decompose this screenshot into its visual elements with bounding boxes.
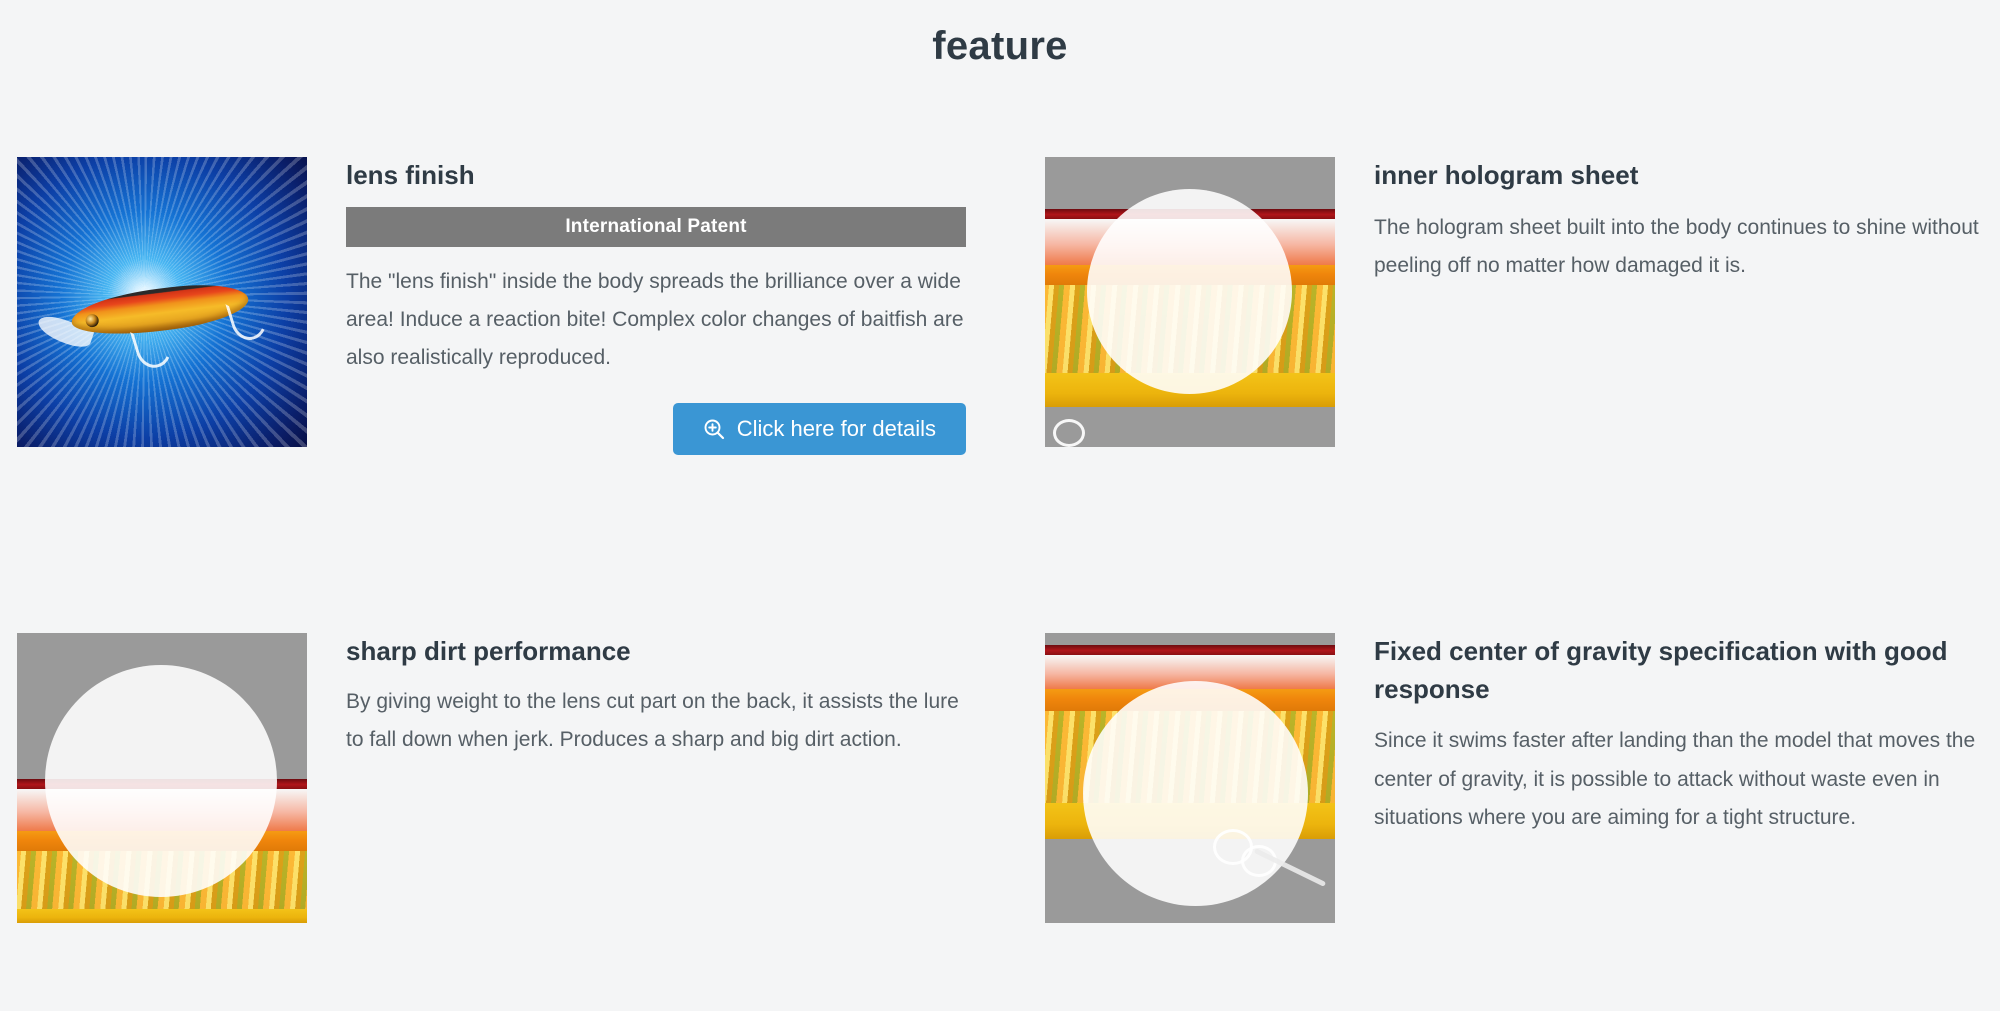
- feature-image-lens-finish[interactable]: [17, 157, 307, 447]
- details-button-label: Click here for details: [737, 418, 936, 440]
- feature-body-lens-finish: lens finish International Patent The "le…: [307, 157, 972, 455]
- macro-band-pink: [17, 789, 307, 831]
- feature-description: The hologram sheet built into the body c…: [1374, 209, 1994, 285]
- feature-image-sharp-dirt-performance[interactable]: [17, 633, 307, 923]
- hook-ring-icon: [1053, 419, 1085, 447]
- feature-body-inner-hologram-sheet: inner hologram sheet The hologram sheet …: [1335, 157, 1995, 285]
- feature-card-fixed-center-of-gravity: Fixed center of gravity specification wi…: [1045, 633, 1995, 923]
- macro-band-red-stripe: [1045, 209, 1335, 219]
- macro-band-orange: [1045, 689, 1335, 711]
- macro-band-orange: [1045, 265, 1335, 285]
- feature-title: inner hologram sheet: [1374, 157, 1995, 195]
- feature-card-sharp-dirt-performance: sharp dirt performance By giving weight …: [17, 633, 972, 923]
- macro-band-hologram: [1045, 285, 1335, 373]
- macro-band-yellow: [1045, 803, 1335, 839]
- macro-band-pink: [1045, 655, 1335, 689]
- feature-card-inner-hologram-sheet: inner hologram sheet The hologram sheet …: [1045, 157, 1995, 447]
- click-here-for-details-button[interactable]: Click here for details: [673, 403, 966, 455]
- feature-card-lens-finish: lens finish International Patent The "le…: [17, 157, 972, 455]
- lure-hook-rear-icon: [225, 294, 272, 345]
- macro-band-yellow: [17, 909, 307, 923]
- feature-title: Fixed center of gravity specification wi…: [1374, 633, 1995, 708]
- macro-band-yellow: [1045, 373, 1335, 407]
- macro-band-red-stripe: [17, 779, 307, 789]
- macro-band-pink: [1045, 219, 1335, 265]
- lure-illustration: [30, 260, 287, 362]
- feature-image-inner-hologram-sheet[interactable]: [1045, 157, 1335, 447]
- macro-band-hologram: [1045, 711, 1335, 803]
- feature-body-sharp-dirt-performance: sharp dirt performance By giving weight …: [307, 633, 972, 759]
- details-button-row: Click here for details: [346, 403, 966, 455]
- macro-band-red-stripe: [1045, 645, 1335, 655]
- feature-title: sharp dirt performance: [346, 633, 972, 671]
- feature-image-fixed-center-of-gravity[interactable]: [1045, 633, 1335, 923]
- feature-description: Since it swims faster after landing than…: [1374, 722, 1994, 837]
- feature-description: By giving weight to the lens cut part on…: [346, 683, 966, 759]
- macro-band-orange: [17, 831, 307, 851]
- feature-title: lens finish: [346, 157, 972, 195]
- page-title: feature: [0, 0, 2000, 70]
- feature-description: The "lens finish" inside the body spread…: [346, 263, 966, 378]
- patent-banner: International Patent: [346, 207, 966, 247]
- search-plus-icon: [703, 418, 725, 440]
- feature-body-fixed-center-of-gravity: Fixed center of gravity specification wi…: [1335, 633, 1995, 837]
- macro-band-hologram: [17, 851, 307, 909]
